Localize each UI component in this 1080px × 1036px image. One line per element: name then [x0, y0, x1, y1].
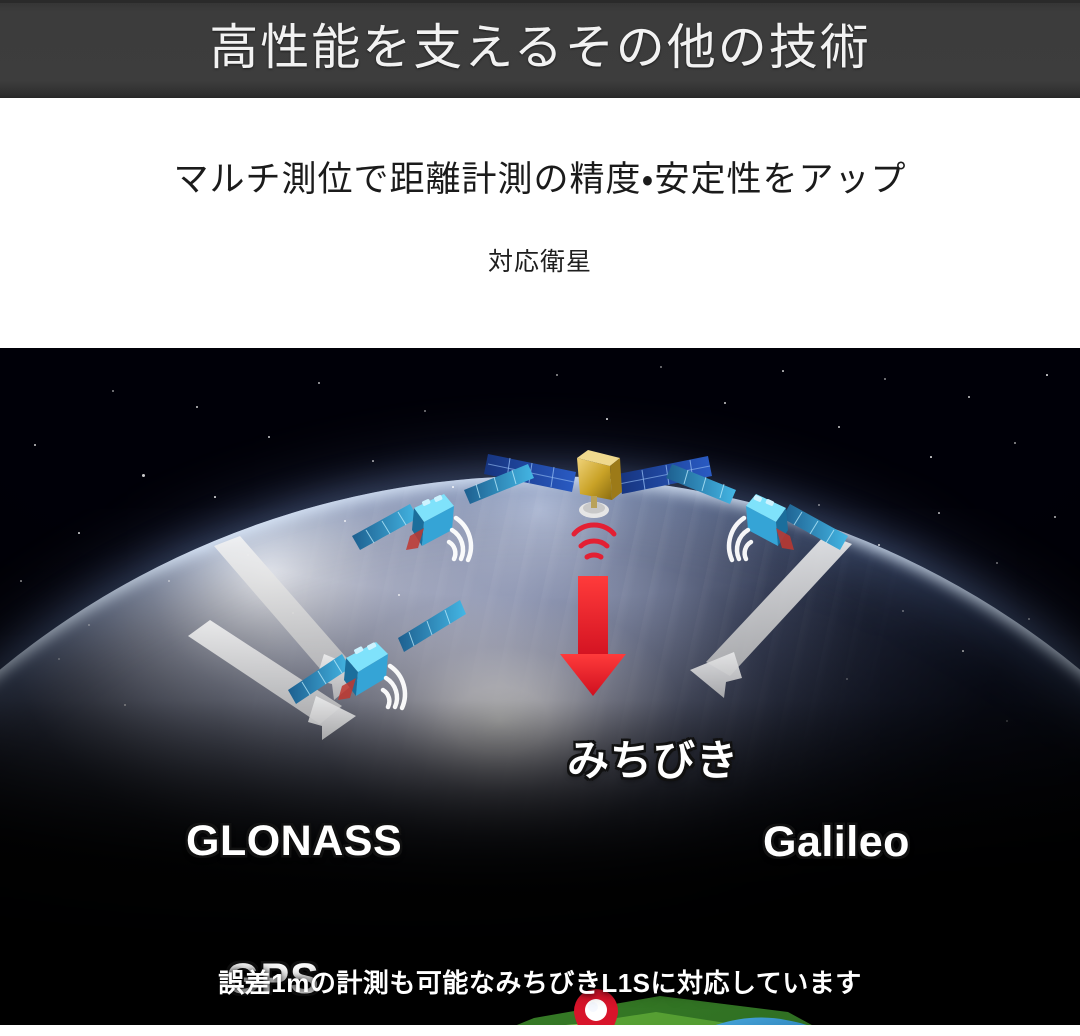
- scene-caption: 誤差1mの計測も可能なみちびきL1Sに対応しています: [0, 970, 1080, 996]
- header-band: 高性能を支えるその他の技術: [0, 0, 1080, 98]
- label-glonass: GLONASS: [186, 820, 402, 863]
- scene-background: [0, 348, 1080, 1025]
- earth-sphere: [0, 476, 1080, 1025]
- page-title: 高性能を支えるその他の技術: [209, 24, 871, 73]
- label-michibiki: みちびき: [567, 740, 739, 782]
- space-illustration: GLONASS Galileo GPS みちびき 誤差1mの計測も可能なみちびき…: [0, 348, 1080, 1025]
- product-feature-page: 高性能を支えるその他の技術 マルチ測位で距離計測の精度・安定性をアップ 対応衛星: [0, 0, 1080, 1036]
- supported-satellites-label: 対応衛星: [0, 250, 1080, 275]
- copy-block: マルチ測位で距離計測の精度・安定性をアップ 対応衛星: [0, 98, 1080, 348]
- label-galileo: Galileo: [763, 821, 910, 864]
- subtitle: マルチ測位で距離計測の精度・安定性をアップ: [0, 162, 1080, 197]
- bottom-strip: [0, 1025, 1080, 1036]
